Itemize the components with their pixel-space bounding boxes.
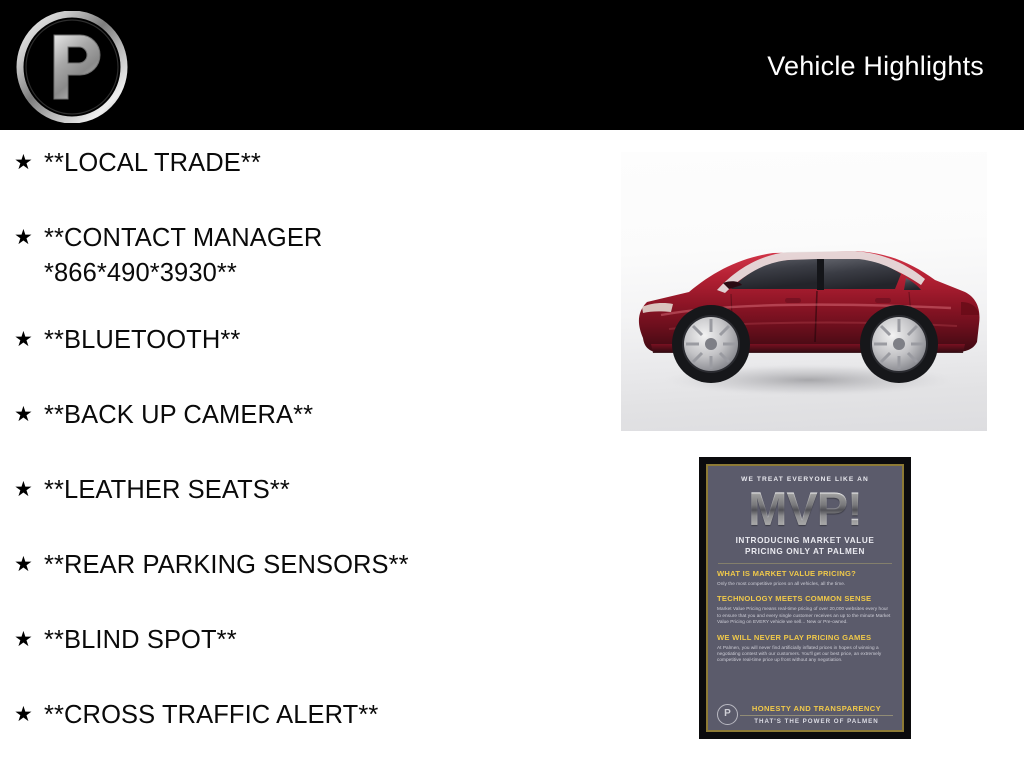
mvp-section-heading: WE WILL NEVER PLAY PRICING GAMES <box>717 633 893 643</box>
list-item: ★ **CROSS TRAFFIC ALERT** <box>0 698 600 740</box>
page-header: Vehicle Highlights <box>0 0 1024 130</box>
list-item: ★ **BLUETOOTH** <box>0 323 600 365</box>
mvp-footer-text: HONESTY AND TRANSPARENCY THAT'S THE POWE… <box>738 704 893 725</box>
vehicle-photo <box>621 152 987 431</box>
star-bullet-icon: ★ <box>14 473 44 507</box>
mvp-section-heading: TECHNOLOGY MEETS COMMON SENSE <box>717 594 893 604</box>
palmen-p-logo-icon: P <box>717 704 738 725</box>
highlight-text: **LOCAL TRADE** <box>44 146 600 181</box>
page-title: Vehicle Highlights <box>767 50 984 82</box>
star-bullet-icon: ★ <box>14 698 44 732</box>
mvp-wordmark: MVP! <box>717 484 893 534</box>
list-item: ★ **CONTACT MANAGER *866*490*3930** <box>0 221 600 290</box>
mvp-footer: P HONESTY AND TRANSPARENCY THAT'S THE PO… <box>717 704 893 725</box>
list-item: ★ **LOCAL TRADE** <box>0 146 600 188</box>
highlight-text: **CROSS TRAFFIC ALERT** <box>44 698 600 733</box>
divider <box>718 563 892 564</box>
mvp-footer-line-2: THAT'S THE POWER OF PALMEN <box>740 718 893 725</box>
list-item: ★ **BACK UP CAMERA** <box>0 398 600 440</box>
mvp-section: TECHNOLOGY MEETS COMMON SENSE Market Val… <box>717 594 893 625</box>
highlight-text: **LEATHER SEATS** <box>44 473 600 508</box>
mvp-section-body: Only the most competitive prices on all … <box>717 581 893 587</box>
mvp-section: WHAT IS MARKET VALUE PRICING? Only the m… <box>717 569 893 587</box>
highlight-text: **CONTACT MANAGER *866*490*3930** <box>44 221 600 290</box>
mvp-section: WE WILL NEVER PLAY PRICING GAMES At Palm… <box>717 633 893 664</box>
mvp-section-body: At Palmen, you will never find artificia… <box>717 645 893 664</box>
highlight-text: **REAR PARKING SENSORS** <box>44 548 600 583</box>
mvp-section-heading: WHAT IS MARKET VALUE PRICING? <box>717 569 893 579</box>
mvp-section-body: Market Value Pricing means real-time pri… <box>717 606 893 625</box>
list-item: ★ **REAR PARKING SENSORS** <box>0 548 600 590</box>
mvp-footer-line-1: HONESTY AND TRANSPARENCY <box>740 704 893 713</box>
palmen-p-logo-icon <box>16 11 128 123</box>
mvp-subtitle: INTRODUCING MARKET VALUE PRICING ONLY AT… <box>717 535 893 557</box>
highlight-text: **BACK UP CAMERA** <box>44 398 600 433</box>
star-bullet-icon: ★ <box>14 146 44 180</box>
star-bullet-icon: ★ <box>14 221 44 255</box>
highlight-text: **BLIND SPOT** <box>44 623 600 658</box>
list-item: ★ **BLIND SPOT** <box>0 623 600 665</box>
vehicle-highlights-list: ★ **LOCAL TRADE** ★ **CONTACT MANAGER *8… <box>0 146 600 773</box>
star-bullet-icon: ★ <box>14 548 44 582</box>
star-bullet-icon: ★ <box>14 398 44 432</box>
list-item: ★ **LEATHER SEATS** <box>0 473 600 515</box>
divider <box>740 715 893 716</box>
mvp-promo-poster: WE TREAT EVERYONE LIKE AN MVP! INTRODUCI… <box>699 457 911 739</box>
star-bullet-icon: ★ <box>14 323 44 357</box>
highlight-text: **BLUETOOTH** <box>44 323 600 358</box>
star-bullet-icon: ★ <box>14 623 44 657</box>
